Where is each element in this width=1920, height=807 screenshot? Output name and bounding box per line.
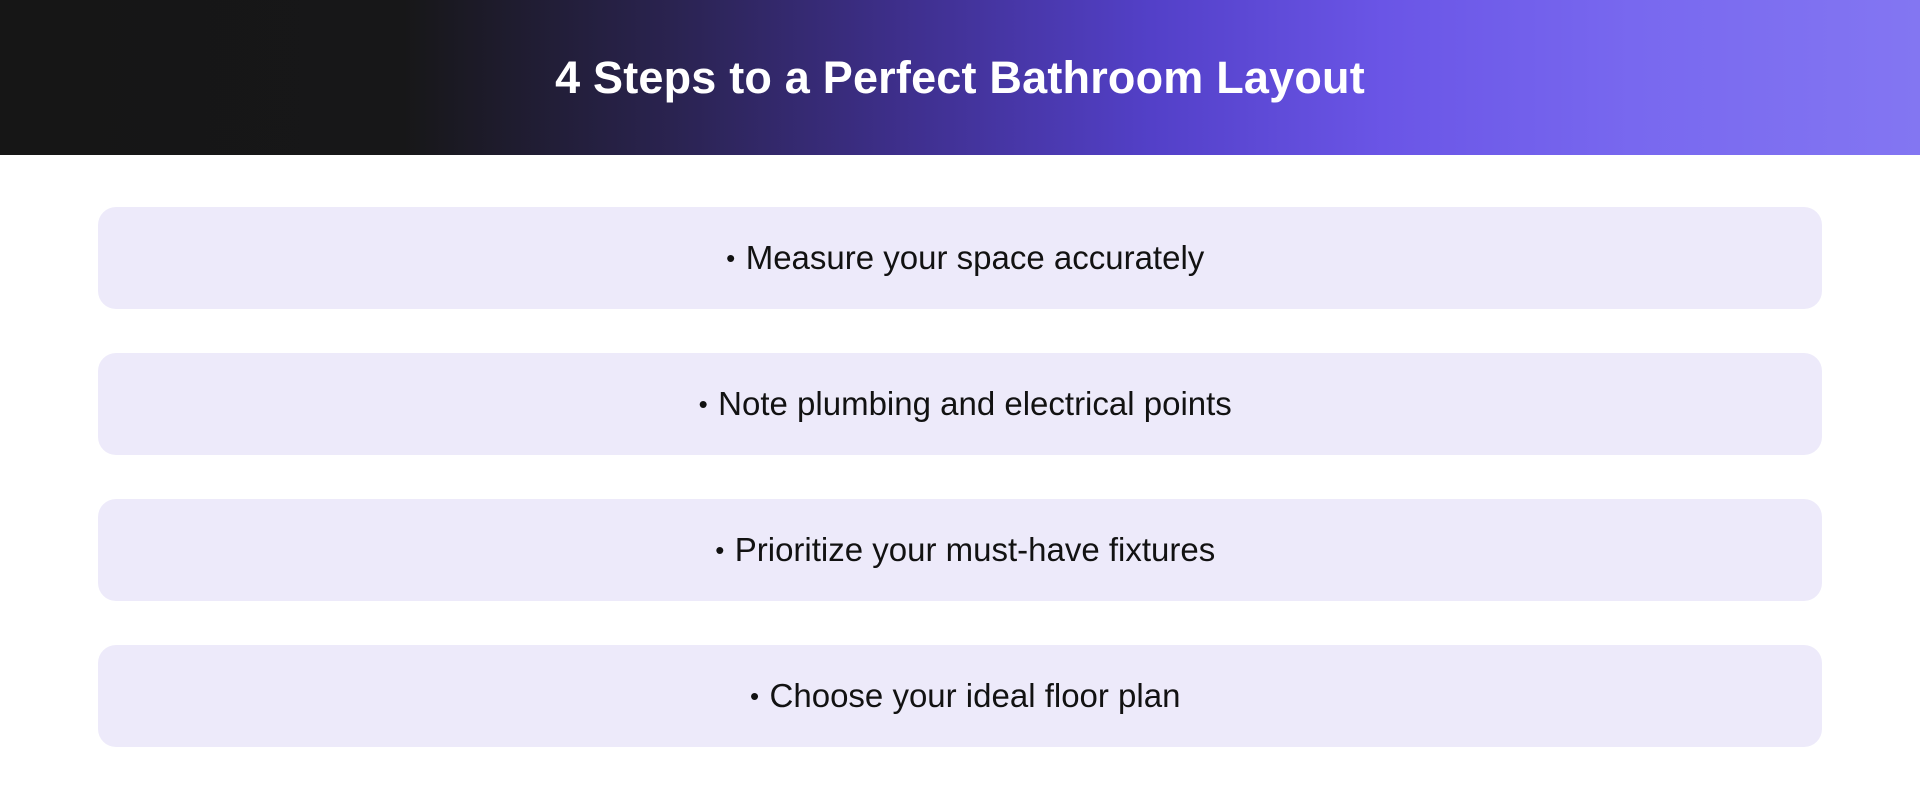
list-item: • Prioritize your must-have fixtures [98,499,1822,601]
list-item-content: • Note plumbing and electrical points [688,383,1232,424]
main-content: • Measure your space accurately • Note p… [0,155,1920,807]
list-item-label: Note plumbing and electrical points [718,383,1232,424]
bullet-icon: • [705,537,735,563]
list-item: • Note plumbing and electrical points [98,353,1822,455]
bullet-icon: • [688,391,718,417]
list-item-content: • Choose your ideal floor plan [740,675,1181,716]
bullet-icon: • [716,245,746,271]
page-title: 4 Steps to a Perfect Bathroom Layout [515,53,1405,103]
list-item-label: Prioritize your must-have fixtures [735,529,1215,570]
page-root: 4 Steps to a Perfect Bathroom Layout • M… [0,0,1920,807]
list-item-label: Measure your space accurately [746,237,1205,278]
steps-list: • Measure your space accurately • Note p… [98,207,1822,747]
bullet-icon: • [740,683,770,709]
list-item-label: Choose your ideal floor plan [770,675,1181,716]
list-item: • Measure your space accurately [98,207,1822,309]
header-banner: 4 Steps to a Perfect Bathroom Layout [0,0,1920,155]
list-item-content: • Prioritize your must-have fixtures [705,529,1215,570]
list-item-content: • Measure your space accurately [716,237,1205,278]
list-item: • Choose your ideal floor plan [98,645,1822,747]
